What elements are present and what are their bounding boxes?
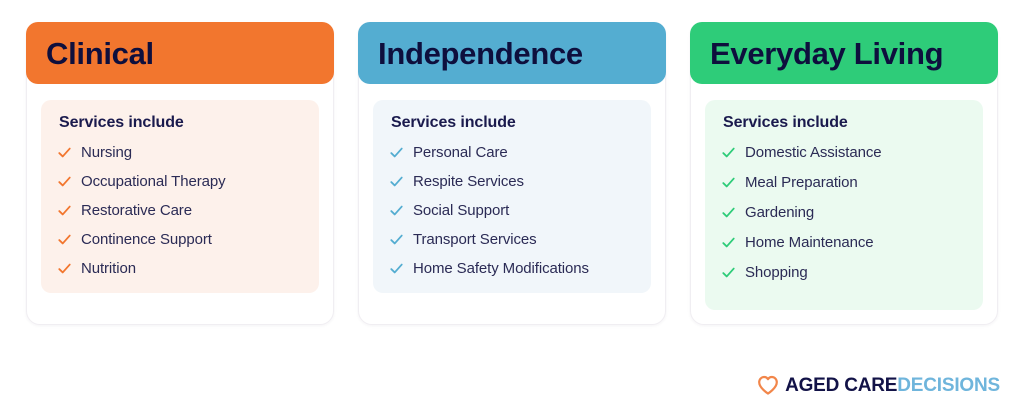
service-list-item: Domestic Assistance [721, 144, 967, 161]
check-icon [721, 175, 736, 190]
service-card: ClinicalServices includeNursingOccupatio… [26, 22, 334, 325]
service-label: Shopping [745, 264, 808, 281]
card-title: Everyday Living [710, 38, 943, 69]
service-label: Meal Preparation [745, 174, 858, 191]
services-list: Domestic AssistanceMeal PreparationGarde… [721, 144, 967, 281]
service-label: Home Maintenance [745, 234, 873, 251]
check-icon [389, 232, 404, 247]
check-icon [57, 145, 72, 160]
service-label: Transport Services [413, 231, 537, 248]
card-header: Everyday Living [690, 22, 998, 84]
service-label: Nutrition [81, 260, 136, 277]
check-icon [57, 203, 72, 218]
check-icon [389, 261, 404, 276]
check-icon [57, 232, 72, 247]
check-icon [721, 265, 736, 280]
service-list-item: Social Support [389, 202, 635, 219]
service-list-item: Occupational Therapy [57, 173, 303, 190]
service-label: Occupational Therapy [81, 173, 225, 190]
card-title: Independence [378, 38, 583, 69]
service-label: Respite Services [413, 173, 524, 190]
check-icon [389, 145, 404, 160]
service-list-item: Home Safety Modifications [389, 260, 635, 277]
service-label: Home Safety Modifications [413, 260, 589, 277]
service-list-item: Meal Preparation [721, 174, 967, 191]
service-list-item: Shopping [721, 264, 967, 281]
check-icon [721, 235, 736, 250]
services-panel-title: Services include [391, 114, 635, 132]
service-card: IndependenceServices includePersonal Car… [358, 22, 666, 325]
service-label: Domestic Assistance [745, 144, 881, 161]
service-label: Nursing [81, 144, 132, 161]
services-panel-title: Services include [723, 114, 967, 132]
service-list-item: Respite Services [389, 173, 635, 190]
service-label: Personal Care [413, 144, 508, 161]
check-icon [721, 205, 736, 220]
service-list-item: Continence Support [57, 231, 303, 248]
service-list-item: Restorative Care [57, 202, 303, 219]
service-label: Gardening [745, 204, 814, 221]
service-label: Social Support [413, 202, 509, 219]
service-list-item: Home Maintenance [721, 234, 967, 251]
heart-icon [757, 375, 779, 395]
check-icon [57, 174, 72, 189]
card-header: Clinical [26, 22, 334, 84]
logo-secondary-text: DECISIONS [897, 375, 1000, 396]
services-list: NursingOccupational TherapyRestorative C… [57, 144, 303, 277]
services-panel: Services includeNursingOccupational Ther… [41, 100, 319, 293]
services-panel: Services includeDomestic AssistanceMeal … [705, 100, 983, 310]
service-category-cards: ClinicalServices includeNursingOccupatio… [26, 22, 998, 325]
service-list-item: Nursing [57, 144, 303, 161]
service-list-item: Gardening [721, 204, 967, 221]
check-icon [721, 145, 736, 160]
check-icon [389, 174, 404, 189]
services-panel-title: Services include [59, 114, 303, 132]
service-label: Restorative Care [81, 202, 192, 219]
check-icon [389, 203, 404, 218]
service-list-item: Nutrition [57, 260, 303, 277]
card-title: Clinical [46, 38, 154, 69]
service-label: Continence Support [81, 231, 212, 248]
services-list: Personal CareRespite ServicesSocial Supp… [389, 144, 635, 277]
service-list-item: Transport Services [389, 231, 635, 248]
service-card: Everyday LivingServices includeDomestic … [690, 22, 998, 325]
check-icon [57, 261, 72, 276]
logo-primary-text: AGED CARE [785, 375, 897, 396]
services-panel: Services includePersonal CareRespite Ser… [373, 100, 651, 293]
brand-logo: AGED CAREDECISIONS [757, 375, 1000, 395]
card-header: Independence [358, 22, 666, 84]
service-list-item: Personal Care [389, 144, 635, 161]
